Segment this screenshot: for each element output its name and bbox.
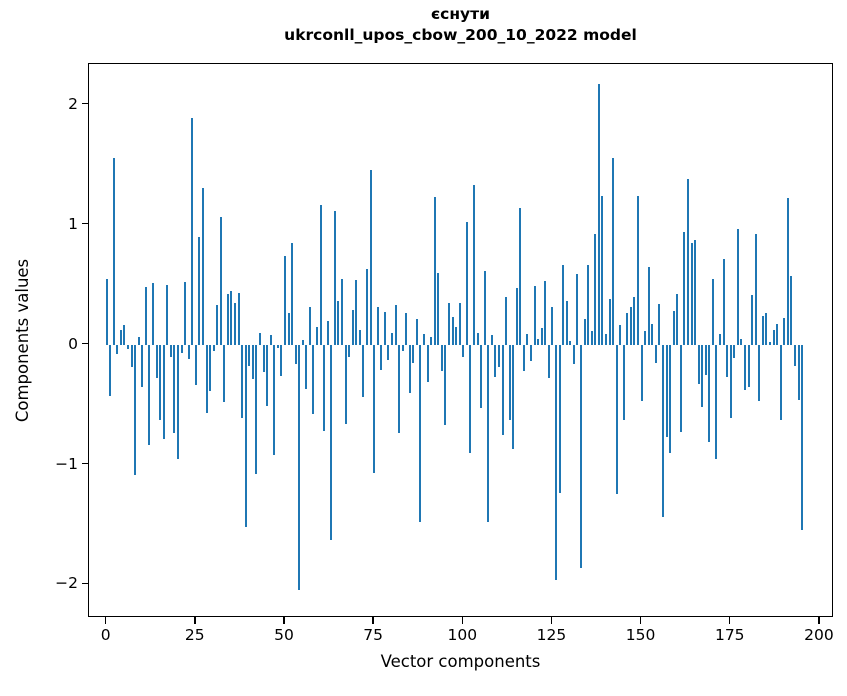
bar	[141, 345, 143, 387]
bar	[434, 197, 436, 344]
bar	[715, 345, 717, 459]
x-tick-label: 0	[71, 626, 141, 644]
bar	[395, 305, 397, 345]
bar	[534, 286, 536, 345]
x-tick-label: 25	[160, 626, 230, 644]
bar	[801, 345, 803, 531]
bar	[633, 297, 635, 345]
bar	[605, 334, 607, 345]
bar	[776, 324, 778, 344]
bar	[683, 232, 685, 345]
bar	[430, 337, 432, 344]
bar	[127, 345, 129, 350]
x-tick-mark	[462, 617, 463, 624]
bar	[448, 303, 450, 345]
bar	[687, 179, 689, 344]
bar	[587, 265, 589, 344]
x-tick-mark	[283, 617, 284, 624]
bar	[113, 158, 115, 345]
bar	[516, 288, 518, 344]
bar	[637, 196, 639, 345]
x-tick-label: 125	[516, 626, 586, 644]
bar	[794, 345, 796, 367]
bar	[630, 307, 632, 344]
y-tick-label: −2	[18, 575, 78, 591]
bar	[202, 188, 204, 345]
bar	[195, 345, 197, 386]
x-tick-label: 200	[784, 626, 847, 644]
bar	[398, 345, 400, 434]
bar	[469, 345, 471, 453]
x-tick-mark	[105, 617, 106, 624]
x-tick-label: 75	[338, 626, 408, 644]
bar	[783, 318, 785, 344]
bar	[273, 345, 275, 455]
plot-axes	[88, 63, 833, 617]
bar	[466, 222, 468, 344]
bar	[498, 345, 500, 368]
bar	[248, 345, 250, 367]
y-tick-mark	[82, 103, 89, 104]
bar	[526, 334, 528, 345]
bar	[312, 345, 314, 415]
bar	[198, 237, 200, 345]
bar	[259, 333, 261, 345]
bar	[798, 345, 800, 400]
bar	[366, 269, 368, 345]
bar	[662, 345, 664, 518]
bar	[609, 299, 611, 345]
bar	[669, 345, 671, 453]
bar	[241, 345, 243, 418]
bar	[598, 84, 600, 344]
bar	[705, 345, 707, 375]
bar-series	[89, 64, 832, 616]
bar	[359, 330, 361, 344]
bar	[341, 279, 343, 345]
bar	[355, 280, 357, 345]
bar	[740, 339, 742, 345]
x-tick-mark	[818, 617, 819, 624]
bar	[380, 345, 382, 370]
x-tick-label: 50	[249, 626, 319, 644]
bar	[327, 321, 329, 345]
bar	[544, 281, 546, 345]
y-tick-mark	[82, 343, 89, 344]
bar	[138, 337, 140, 344]
bar	[148, 345, 150, 446]
y-tick-mark	[82, 583, 89, 584]
bar	[362, 345, 364, 398]
bar	[773, 330, 775, 344]
bar	[666, 345, 668, 437]
bar	[384, 312, 386, 344]
bar	[305, 345, 307, 389]
bar	[166, 285, 168, 345]
bar	[452, 317, 454, 345]
bar	[116, 345, 118, 355]
bar	[680, 345, 682, 433]
bar	[723, 259, 725, 344]
bar	[437, 273, 439, 345]
bar	[537, 339, 539, 345]
bar	[462, 345, 464, 357]
bar	[548, 345, 550, 379]
bar	[177, 345, 179, 459]
bar	[751, 295, 753, 344]
bar	[523, 345, 525, 371]
x-tick-mark	[640, 617, 641, 624]
bar	[730, 345, 732, 418]
bar	[419, 345, 421, 522]
bar	[270, 335, 272, 345]
bar	[280, 345, 282, 376]
bar	[184, 282, 186, 344]
bar	[377, 307, 379, 344]
bar	[323, 345, 325, 431]
bar	[765, 313, 767, 344]
bar	[131, 345, 133, 368]
bar	[223, 345, 225, 403]
bar	[480, 345, 482, 409]
bar	[541, 328, 543, 345]
bar	[698, 345, 700, 385]
bar	[316, 327, 318, 345]
bar	[484, 271, 486, 344]
bar	[444, 345, 446, 425]
bar	[320, 205, 322, 344]
bar	[387, 345, 389, 361]
bar	[601, 196, 603, 345]
bar	[491, 335, 493, 345]
bar	[591, 331, 593, 344]
bar	[459, 303, 461, 345]
bar	[644, 331, 646, 344]
bar	[245, 345, 247, 527]
bar	[719, 334, 721, 345]
bar	[594, 234, 596, 344]
bar	[676, 294, 678, 344]
bar	[109, 345, 111, 397]
bar	[519, 208, 521, 345]
bar	[477, 333, 479, 345]
bar	[562, 265, 564, 344]
bar	[573, 345, 575, 364]
bar	[402, 345, 404, 351]
bar	[487, 345, 489, 522]
bar	[655, 345, 657, 363]
bar	[733, 345, 735, 358]
bar	[619, 325, 621, 344]
bar	[213, 345, 215, 351]
bar	[284, 256, 286, 345]
y-axis-label: Components values	[13, 258, 32, 421]
y-tick-label: 1	[18, 216, 78, 232]
bar	[755, 234, 757, 344]
bar	[209, 345, 211, 392]
bar	[412, 345, 414, 363]
bar	[551, 307, 553, 344]
bar	[373, 345, 375, 473]
x-tick-mark	[194, 617, 195, 624]
bar	[352, 310, 354, 345]
bar	[726, 345, 728, 377]
bar	[559, 345, 561, 494]
bar	[227, 294, 229, 344]
bar	[106, 279, 108, 345]
bar	[348, 345, 350, 357]
y-tick-label: 2	[18, 96, 78, 112]
bar	[337, 301, 339, 344]
bar	[569, 341, 571, 345]
x-tick-label: 150	[606, 626, 676, 644]
bar	[494, 345, 496, 377]
chart-title-line-2: ukrconll_upos_cbow_200_10_2022 model	[88, 25, 833, 46]
bar	[145, 287, 147, 345]
bar	[748, 345, 750, 387]
bar	[758, 345, 760, 401]
bar	[255, 345, 257, 475]
bar	[694, 240, 696, 344]
x-tick-mark	[372, 617, 373, 624]
bar	[509, 345, 511, 421]
bar	[787, 198, 789, 344]
bar	[762, 316, 764, 345]
bar	[298, 345, 300, 591]
bar	[580, 345, 582, 568]
bar	[238, 293, 240, 345]
bar	[530, 345, 532, 362]
bar	[441, 345, 443, 371]
chart-title: єснути ukrconll_upos_cbow_200_10_2022 mo…	[88, 4, 833, 46]
bar	[623, 345, 625, 421]
bar	[330, 345, 332, 540]
bar	[334, 211, 336, 344]
bar	[576, 274, 578, 345]
bar	[648, 267, 650, 345]
bar	[673, 311, 675, 345]
bar	[780, 345, 782, 421]
bar	[266, 345, 268, 406]
bar	[277, 345, 279, 349]
bar	[427, 345, 429, 382]
bar	[612, 158, 614, 345]
bar	[512, 345, 514, 449]
y-tick-mark	[82, 223, 89, 224]
bar	[123, 325, 125, 344]
bar	[391, 333, 393, 345]
x-tick-label: 100	[427, 626, 497, 644]
bar	[295, 345, 297, 364]
bar	[691, 243, 693, 345]
bar	[159, 345, 161, 421]
bar	[370, 170, 372, 345]
bar	[181, 345, 183, 353]
bar	[220, 217, 222, 344]
x-tick-label: 175	[695, 626, 765, 644]
bar	[651, 324, 653, 344]
bar	[206, 345, 208, 413]
bar	[405, 313, 407, 344]
bar	[288, 313, 290, 344]
x-axis-label: Vector components	[88, 652, 833, 671]
bar	[234, 303, 236, 345]
bar	[216, 305, 218, 345]
bar	[641, 345, 643, 401]
bar	[191, 118, 193, 345]
bar	[120, 330, 122, 344]
bar	[769, 342, 771, 344]
figure-canvas: єснути ukrconll_upos_cbow_200_10_2022 mo…	[0, 0, 847, 696]
y-tick-label: −1	[18, 456, 78, 472]
bar	[473, 185, 475, 344]
x-tick-mark	[729, 617, 730, 624]
bar	[230, 291, 232, 345]
bar	[309, 307, 311, 344]
chart-title-line-1: єснути	[88, 4, 833, 25]
bar	[584, 319, 586, 344]
bar	[170, 345, 172, 357]
bar	[658, 304, 660, 345]
x-tick-mark	[551, 617, 552, 624]
bar	[616, 345, 618, 495]
bar	[626, 313, 628, 344]
bar	[291, 243, 293, 345]
bar	[163, 345, 165, 440]
bar	[416, 319, 418, 344]
bar	[188, 345, 190, 359]
bar	[505, 297, 507, 345]
bar	[152, 283, 154, 344]
bar	[263, 345, 265, 373]
bar	[566, 301, 568, 344]
bar	[302, 340, 304, 345]
bar	[737, 229, 739, 344]
bar	[345, 345, 347, 424]
bar	[555, 345, 557, 580]
bar	[252, 345, 254, 380]
bar	[409, 345, 411, 393]
bar	[156, 345, 158, 379]
bar	[502, 345, 504, 435]
y-tick-mark	[82, 463, 89, 464]
bar	[423, 334, 425, 345]
bar	[790, 276, 792, 344]
bar	[173, 345, 175, 434]
bar	[712, 279, 714, 345]
bar	[701, 345, 703, 407]
bar	[134, 345, 136, 476]
bar	[708, 345, 710, 442]
bar	[455, 327, 457, 345]
bar	[744, 345, 746, 391]
